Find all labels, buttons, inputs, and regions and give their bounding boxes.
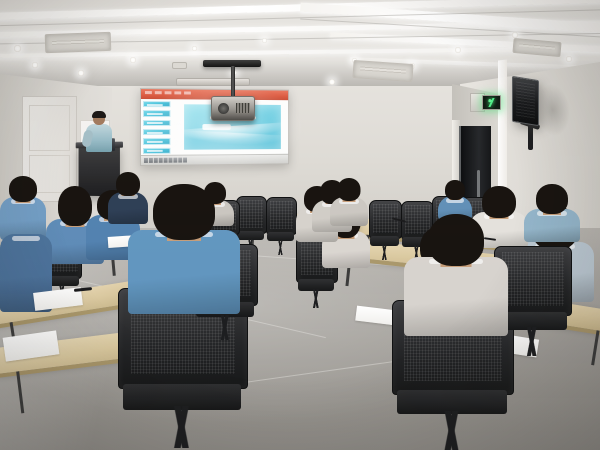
ceiling-downlight <box>262 38 267 43</box>
taskbar-icon[interactable] <box>164 158 168 163</box>
person-torso <box>404 257 508 336</box>
wall-mounted-speaker <box>512 76 539 126</box>
chair-back <box>236 196 267 234</box>
taskbar-icon[interactable] <box>149 158 153 163</box>
speaker-bracket-post <box>528 124 533 150</box>
projector-vent <box>236 103 250 113</box>
person-head <box>536 184 568 214</box>
attendee-left-far <box>0 176 46 240</box>
projector-mount-pole <box>231 66 235 100</box>
taskbar-icon[interactable] <box>169 158 173 163</box>
chair-mesh <box>240 200 264 228</box>
slide-thumbnail[interactable] <box>143 110 171 116</box>
attendee-right-rear <box>524 184 580 242</box>
projector-lens-icon <box>218 103 229 114</box>
person-head <box>445 180 465 200</box>
empty-chair[interactable] <box>369 200 400 260</box>
empty-chair[interactable] <box>266 197 295 255</box>
slide-thumbnail[interactable] <box>143 147 171 153</box>
attendee-center-c <box>330 178 368 226</box>
attendee-foreground-center <box>128 184 240 314</box>
person-head <box>428 214 484 266</box>
taskbar-icon[interactable] <box>178 158 182 163</box>
person-head <box>338 178 361 201</box>
diffuser-louvers <box>519 44 556 50</box>
ceiling-downlight <box>14 45 21 52</box>
ceiling-downlight <box>329 79 335 85</box>
chair-legs <box>200 315 250 340</box>
diffuser-louvers <box>360 67 407 74</box>
chair-legs <box>502 327 563 356</box>
chair-mesh <box>502 252 564 305</box>
attendee-foreground-right <box>404 214 508 336</box>
ceiling-downlight <box>78 70 84 76</box>
taskbar-icon[interactable] <box>144 158 148 163</box>
chair-back <box>266 197 297 235</box>
os-taskbar[interactable] <box>141 154 288 165</box>
slide-thumbnail[interactable] <box>143 120 171 126</box>
ribbon-tabs <box>145 91 191 94</box>
slide-thumbnail-panel[interactable] <box>143 101 171 154</box>
presenter-hair <box>92 111 106 118</box>
ceiling-downlight <box>32 62 38 68</box>
ceiling-mounted-projector <box>211 96 255 121</box>
slide-thumbnail[interactable] <box>143 101 171 107</box>
training-room-photo <box>0 0 600 450</box>
speaker-shadow <box>536 81 570 139</box>
smoke-detector-icon <box>172 62 187 69</box>
taskbar-icon[interactable] <box>173 158 177 163</box>
presenter-at-podium <box>86 112 112 152</box>
door-panel <box>29 105 70 151</box>
chair-legs <box>300 289 332 308</box>
emergency-exit-sign <box>482 95 501 110</box>
taskbar-icon[interactable] <box>183 158 187 163</box>
slide-thumbnail[interactable] <box>143 129 171 135</box>
speaker-grill <box>516 81 535 120</box>
person-head <box>153 184 215 240</box>
taskbar-icon[interactable] <box>159 158 163 163</box>
ceiling-downlight <box>192 46 197 51</box>
person-collar <box>12 236 39 241</box>
ceiling-downlight <box>130 57 136 63</box>
chair-legs <box>372 244 397 260</box>
chair-legs <box>131 406 233 448</box>
chair-legs <box>404 411 500 450</box>
chair-mesh <box>270 201 294 229</box>
taskbar-icon[interactable] <box>154 158 158 163</box>
slide-subtitle-text <box>202 124 231 130</box>
diffuser-louvers <box>52 39 103 45</box>
slide-thumbnail[interactable] <box>143 138 171 144</box>
person-torso <box>128 230 240 314</box>
ceiling-downlight <box>455 47 461 53</box>
ceiling-downlight <box>566 56 572 62</box>
person-head <box>9 176 37 202</box>
ac-ceiling-diffuser <box>45 32 112 53</box>
ceiling-rail <box>176 78 250 86</box>
chair-legs <box>269 240 292 255</box>
running-man-icon <box>486 98 497 107</box>
